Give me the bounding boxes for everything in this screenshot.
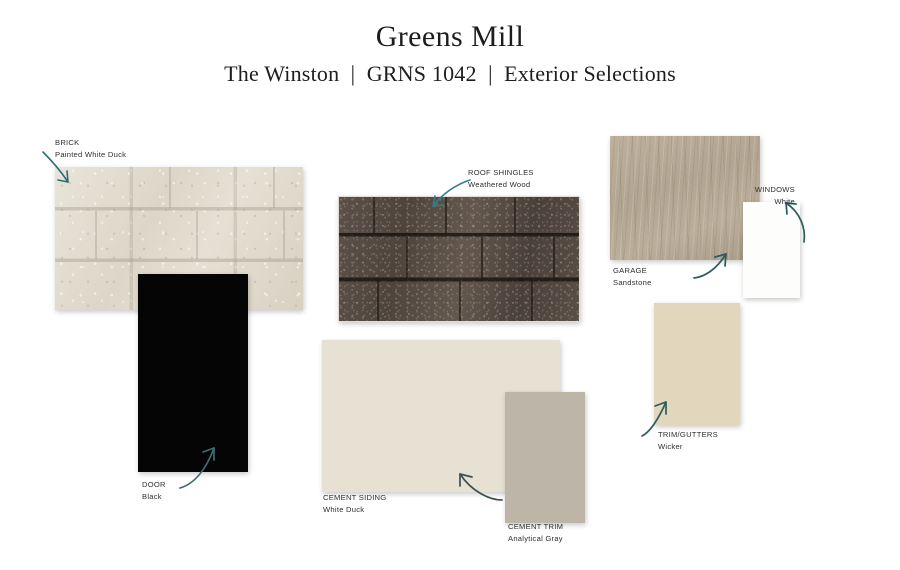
label-cement-trim-value: Analytical Gray [508, 533, 563, 545]
label-brick: BRICK Painted White Duck [55, 137, 126, 160]
page-title: Greens Mill [0, 20, 900, 53]
label-door-value: Black [142, 491, 166, 503]
label-garage-category: GARAGE [613, 265, 652, 277]
label-cement-siding: CEMENT SIDING White Duck [323, 492, 386, 515]
label-cement-siding-value: White Duck [323, 504, 386, 516]
swatch-windows[interactable] [743, 202, 800, 298]
label-trim-gutters-value: Wicker [658, 441, 718, 453]
board-header: Greens Mill The Winston | GRNS 1042 | Ex… [0, 0, 900, 86]
label-trim-gutters: TRIM/GUTTERS Wicker [658, 429, 718, 452]
label-windows: WINDOWS White [755, 184, 795, 207]
label-roof-shingles-value: Weathered Wood [468, 179, 534, 191]
label-trim-gutters-category: TRIM/GUTTERS [658, 429, 718, 441]
label-brick-value: Painted White Duck [55, 149, 126, 161]
swatch-door[interactable] [138, 274, 248, 472]
label-cement-siding-category: CEMENT SIDING [323, 492, 386, 504]
label-roof-shingles: ROOF SHINGLES Weathered Wood [468, 167, 534, 190]
label-door-category: DOOR [142, 479, 166, 491]
swatch-roof-shingles[interactable] [338, 196, 580, 322]
label-garage-value: Sandstone [613, 277, 652, 289]
swatch-garage[interactable] [610, 136, 760, 260]
page-subtitle: The Winston | GRNS 1042 | Exterior Selec… [0, 62, 900, 86]
label-roof-shingles-category: ROOF SHINGLES [468, 167, 534, 179]
label-garage: GARAGE Sandstone [613, 265, 652, 288]
swatch-trim-gutters[interactable] [654, 303, 740, 425]
label-windows-value: White [755, 196, 795, 208]
label-windows-category: WINDOWS [755, 184, 795, 196]
label-door: DOOR Black [142, 479, 166, 502]
label-cement-trim-category: CEMENT TRIM [508, 521, 563, 533]
selection-board: Greens Mill The Winston | GRNS 1042 | Ex… [0, 0, 900, 570]
label-cement-trim: CEMENT TRIM Analytical Gray [508, 521, 563, 544]
swatch-cement-trim[interactable] [505, 392, 585, 523]
label-brick-category: BRICK [55, 137, 126, 149]
